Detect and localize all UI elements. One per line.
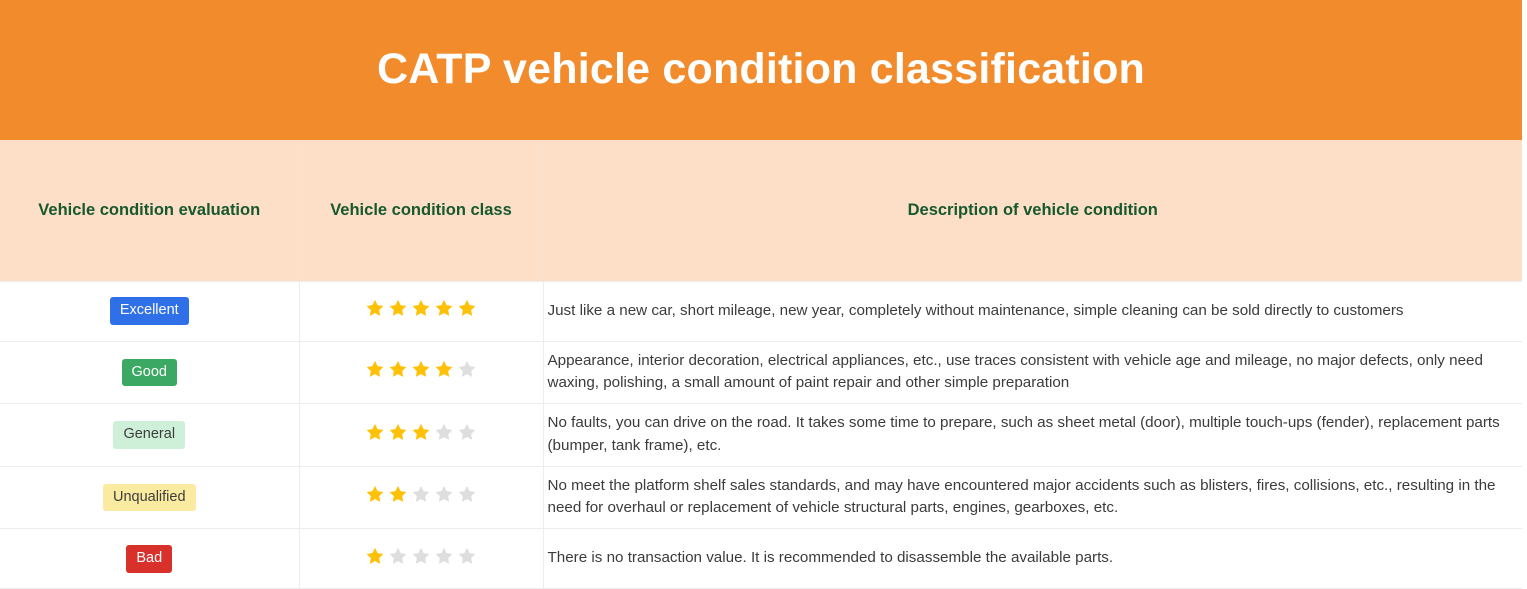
star-icon	[387, 546, 409, 567]
star-rating	[364, 298, 478, 319]
cell-evaluation: Bad	[0, 529, 299, 589]
table-body: ExcellentJust like a new car, short mile…	[0, 281, 1522, 589]
page-title: CATP vehicle condition classification	[377, 46, 1145, 93]
cell-description: No meet the platform shelf sales standar…	[543, 466, 1522, 529]
cell-description: Just like a new car, short mileage, new …	[543, 281, 1522, 341]
cell-condition-class	[299, 341, 543, 404]
star-rating	[364, 422, 478, 443]
table-header: Vehicle condition evaluation Vehicle con…	[0, 140, 1522, 281]
vehicle-condition-classification-page: CATP vehicle condition classification Ve…	[0, 0, 1527, 579]
cell-condition-class	[299, 281, 543, 341]
table-row: GoodAppearance, interior decoration, ele…	[0, 341, 1522, 404]
cell-condition-class	[299, 529, 543, 589]
star-icon	[410, 546, 432, 567]
star-icon	[456, 484, 478, 505]
cell-evaluation: General	[0, 404, 299, 467]
star-icon	[364, 359, 386, 380]
status-badge: Good	[122, 359, 177, 387]
star-icon	[456, 359, 478, 380]
star-icon	[433, 298, 455, 319]
star-icon	[364, 546, 386, 567]
cell-condition-class	[299, 466, 543, 529]
star-icon	[456, 298, 478, 319]
star-icon	[433, 359, 455, 380]
vehicle-condition-table: Vehicle condition evaluation Vehicle con…	[0, 140, 1522, 589]
status-badge: Unqualified	[103, 484, 196, 512]
star-icon	[410, 484, 432, 505]
star-icon	[387, 422, 409, 443]
table-header-row: Vehicle condition evaluation Vehicle con…	[0, 140, 1522, 281]
star-icon	[364, 422, 386, 443]
column-header-evaluation: Vehicle condition evaluation	[0, 140, 299, 281]
star-icon	[456, 546, 478, 567]
star-icon	[410, 298, 432, 319]
table-row: ExcellentJust like a new car, short mile…	[0, 281, 1522, 341]
star-icon	[410, 422, 432, 443]
cell-description: Appearance, interior decoration, electri…	[543, 341, 1522, 404]
column-header-description: Description of vehicle condition	[543, 140, 1522, 281]
star-icon	[433, 546, 455, 567]
cell-evaluation: Excellent	[0, 281, 299, 341]
cell-description: No faults, you can drive on the road. It…	[543, 404, 1522, 467]
column-header-class: Vehicle condition class	[299, 140, 543, 281]
table-row: UnqualifiedNo meet the platform shelf sa…	[0, 466, 1522, 529]
star-icon	[387, 359, 409, 380]
page-title-banner: CATP vehicle condition classification	[0, 0, 1522, 140]
cell-evaluation: Good	[0, 341, 299, 404]
status-badge: Excellent	[110, 297, 189, 325]
cell-description: There is no transaction value. It is rec…	[543, 529, 1522, 589]
star-icon	[387, 484, 409, 505]
star-rating	[364, 546, 478, 567]
table-row: GeneralNo faults, you can drive on the r…	[0, 404, 1522, 467]
star-icon	[410, 359, 432, 380]
status-badge: General	[113, 421, 185, 449]
cell-evaluation: Unqualified	[0, 466, 299, 529]
status-badge: Bad	[126, 545, 172, 573]
star-icon	[456, 422, 478, 443]
star-icon	[433, 422, 455, 443]
table-row: BadThere is no transaction value. It is …	[0, 529, 1522, 589]
star-rating	[364, 484, 478, 505]
star-rating	[364, 359, 478, 380]
star-icon	[364, 484, 386, 505]
star-icon	[364, 298, 386, 319]
cell-condition-class	[299, 404, 543, 467]
star-icon	[433, 484, 455, 505]
star-icon	[387, 298, 409, 319]
